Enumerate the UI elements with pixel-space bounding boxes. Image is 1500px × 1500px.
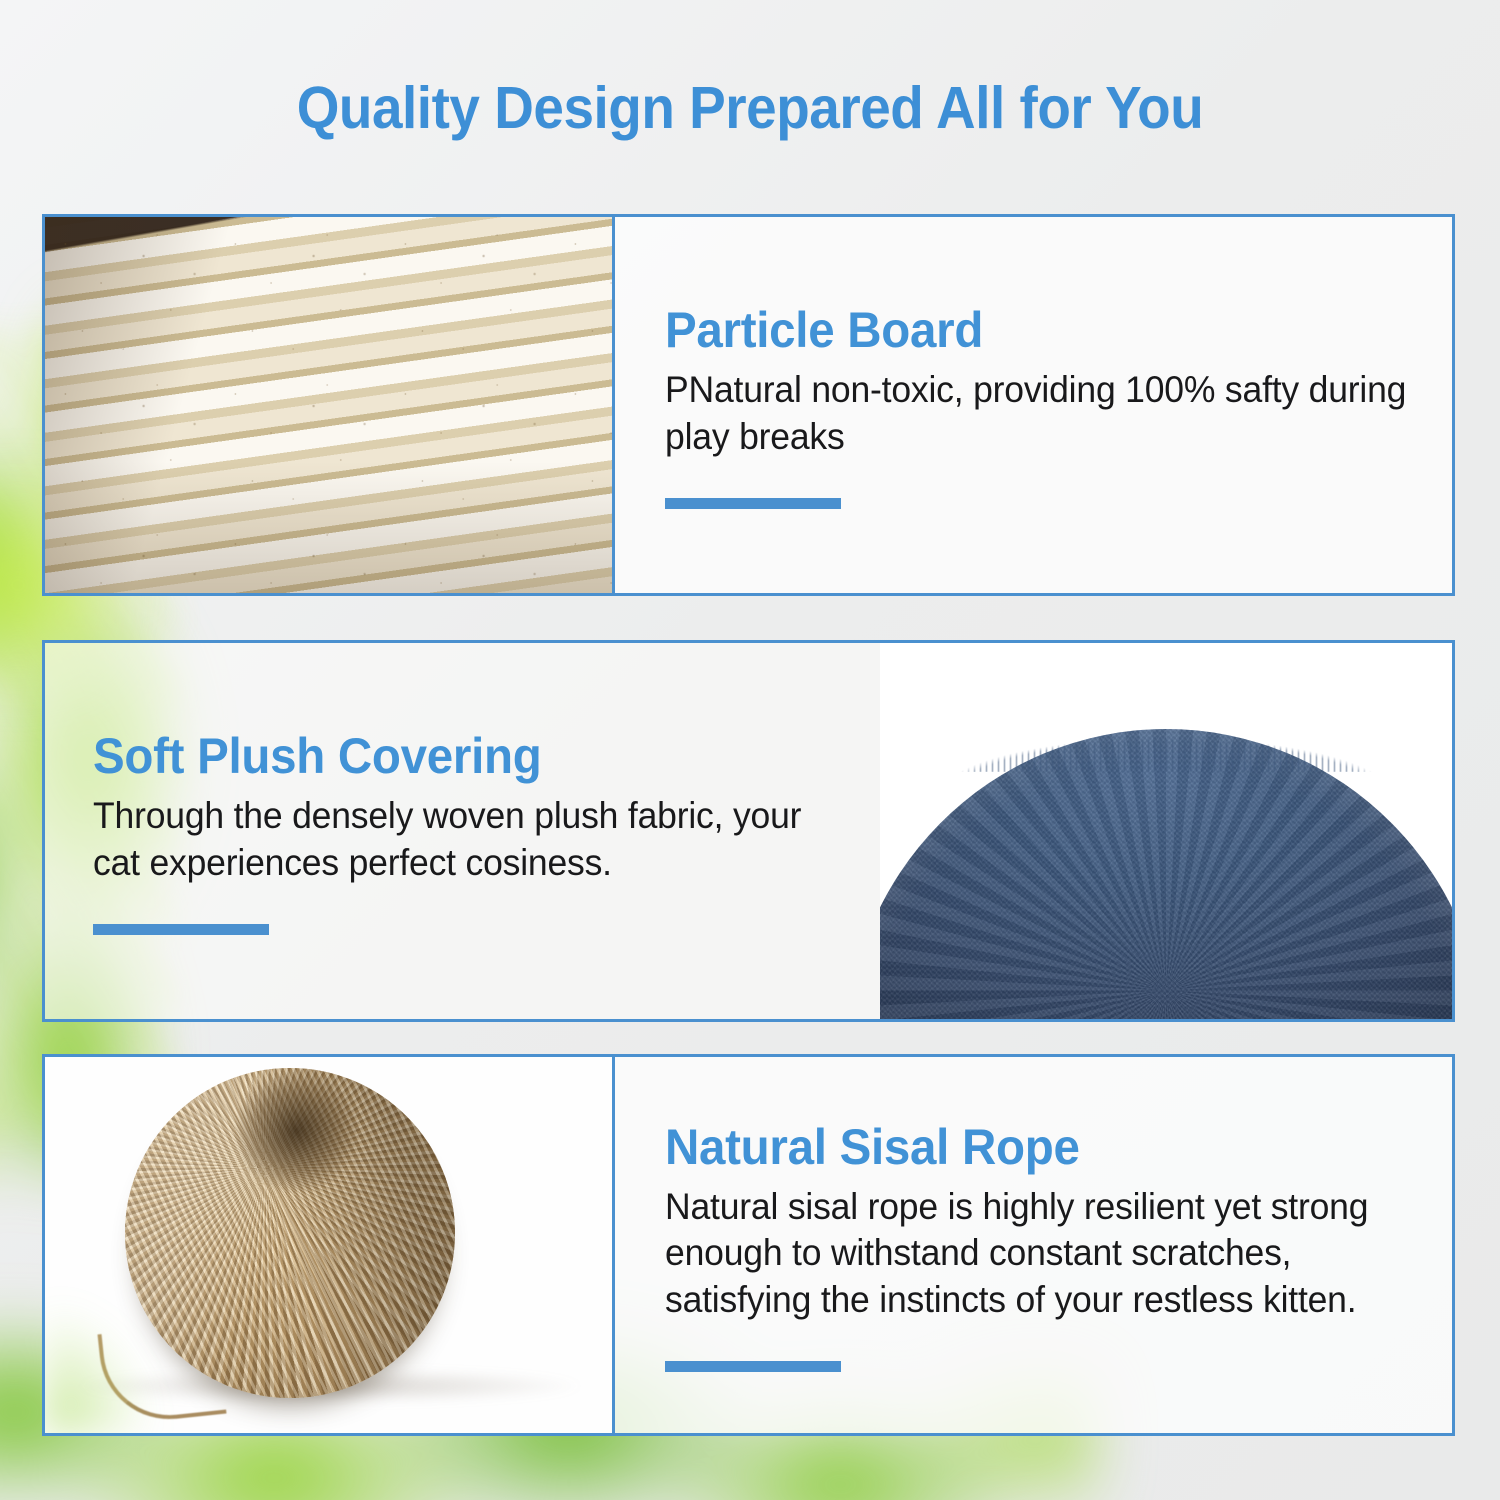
sisal-rope-copy: Natural Sisal Rope Natural sisal rope is…: [615, 1057, 1452, 1433]
blue-plush-fabric-photo: [880, 643, 1452, 1019]
soft-plush-image: [880, 643, 1452, 1019]
accent-underline-bar: [665, 498, 841, 509]
feature-title-sisal-rope: Natural Sisal Rope: [665, 1118, 1413, 1176]
infographic-canvas: Quality Design Prepared All for You Part…: [0, 0, 1500, 1500]
soft-plush-copy: Soft Plush Covering Through the densely …: [45, 643, 880, 1019]
plush-cushion-dome: [880, 729, 1452, 1019]
plush-fuzz-edge: [880, 722, 1452, 772]
feature-card-particle-board: Particle Board PNatural non-toxic, provi…: [42, 214, 1455, 596]
feature-title-particle-board: Particle Board: [665, 301, 1413, 359]
particle-board-photo-shading: [45, 217, 615, 593]
page-title: Quality Design Prepared All for You: [53, 74, 1448, 142]
accent-underline-bar: [93, 924, 269, 935]
rope-loose-end: [98, 1322, 227, 1426]
particle-board-copy: Particle Board PNatural non-toxic, provi…: [615, 217, 1452, 593]
feature-title-soft-plush: Soft Plush Covering: [93, 727, 841, 785]
feature-card-soft-plush: Soft Plush Covering Through the densely …: [42, 640, 1455, 1022]
feature-card-sisal-rope: Natural Sisal Rope Natural sisal rope is…: [42, 1054, 1455, 1436]
accent-underline-bar: [665, 1361, 841, 1372]
feature-body-soft-plush: Through the densely woven plush fabric, …: [93, 793, 803, 886]
sisal-rope-ball-photo: [45, 1057, 615, 1433]
particle-board-image: [45, 217, 615, 593]
sisal-rope-image: [45, 1057, 615, 1433]
feature-body-particle-board: PNatural non-toxic, providing 100% safty…: [665, 367, 1414, 460]
feature-body-sisal-rope: Natural sisal rope is highly resilient y…: [665, 1184, 1421, 1324]
